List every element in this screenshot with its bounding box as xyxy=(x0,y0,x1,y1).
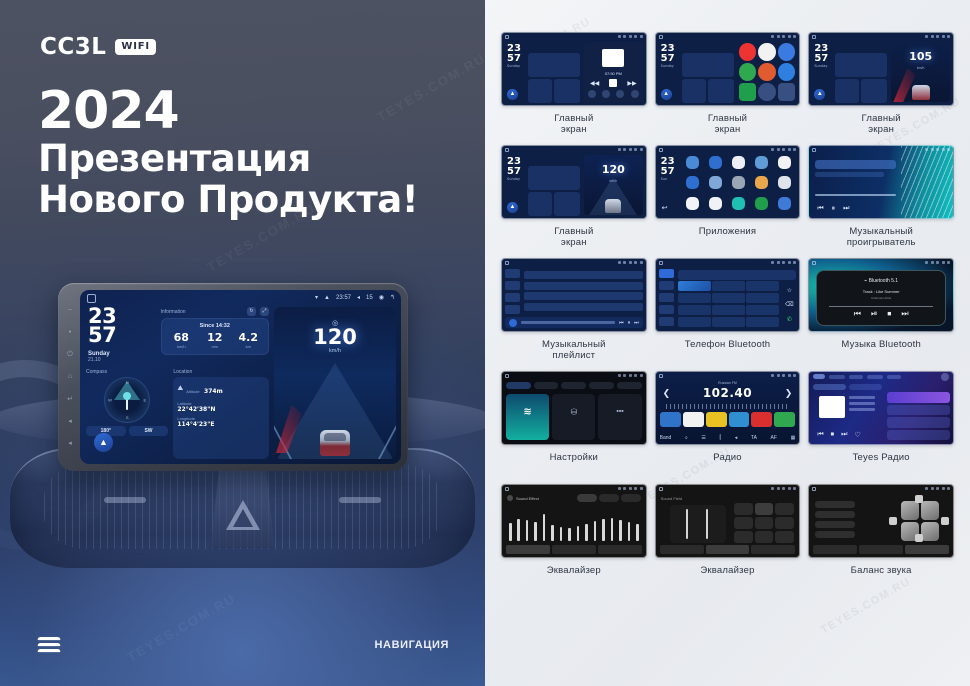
speed-unit: km/h xyxy=(274,348,396,354)
card-hotspot[interactable]: ⛁ xyxy=(552,394,595,440)
tab-balance[interactable] xyxy=(751,545,795,554)
next-station-icon[interactable]: ❯ xyxy=(785,388,793,399)
tab-history[interactable] xyxy=(887,375,901,379)
app-icon-settings[interactable] xyxy=(758,83,776,101)
media-shortcuts[interactable] xyxy=(588,90,639,98)
app-icon-youtube[interactable] xyxy=(739,43,757,61)
now-playing-bar[interactable]: ⏮ ⏸ ⏭ xyxy=(505,317,643,328)
expand-icon[interactable]: ⤢ xyxy=(260,307,269,316)
thumb-status-bar xyxy=(502,33,646,40)
thumbnail-settings[interactable]: ≋ ⛁ ••• xyxy=(501,371,647,445)
navigate-icon[interactable]: ▲ xyxy=(661,89,672,100)
app-icon-maps[interactable] xyxy=(778,43,796,61)
thumb-location-card xyxy=(554,79,580,103)
stop-icon[interactable]: ⏹ xyxy=(831,431,835,439)
next-icon[interactable]: ⏭ xyxy=(901,309,908,319)
tuning-scale[interactable] xyxy=(666,404,790,409)
side-key-back[interactable]: ↵ xyxy=(66,395,75,404)
clock-widget[interactable]: 23 57 Sunday 21.10 xyxy=(86,307,156,365)
dialpad-key-4[interactable] xyxy=(678,293,711,303)
dialpad-key-2[interactable] xyxy=(712,281,745,291)
dialpad-key-8[interactable] xyxy=(712,305,745,315)
dash-button-right[interactable] xyxy=(339,497,381,503)
preset-button[interactable] xyxy=(599,494,619,502)
tab-about[interactable] xyxy=(617,382,642,389)
preset-stations[interactable] xyxy=(660,412,796,427)
trip-stat-distance: 4.2 km xyxy=(232,332,265,349)
sidebar-item-settings[interactable] xyxy=(659,317,674,326)
band-icon[interactable]: Band xyxy=(660,435,672,441)
tab-sound-field[interactable] xyxy=(552,545,596,554)
tab-system[interactable] xyxy=(589,382,614,389)
mute-icon[interactable]: ◉ xyxy=(379,294,384,301)
list-item[interactable] xyxy=(524,292,643,300)
list-item[interactable] xyxy=(887,417,950,428)
refresh-icon[interactable]: ↻ xyxy=(247,307,256,316)
slider-bass[interactable] xyxy=(686,509,688,539)
side-key-mic[interactable]: • xyxy=(66,328,75,337)
setting-balance[interactable] xyxy=(815,511,855,518)
next-icon[interactable]: ⏭ xyxy=(634,320,639,326)
thumbnail-caption: Приложения xyxy=(699,226,757,252)
app-icon-theme[interactable] xyxy=(778,197,791,210)
radio-toolbar[interactable]: Band ⌕ ☰ ⫿ ◂ TA AF ▦ xyxy=(660,435,796,441)
dialpad-key-7[interactable] xyxy=(678,305,711,315)
loud-icon[interactable]: ◂ xyxy=(735,435,738,441)
dialpad-key-5[interactable] xyxy=(712,293,745,303)
list-item[interactable] xyxy=(524,303,643,311)
thumbnail-teyes-radio[interactable]: ⏮ ⏹ ⏭ ♡ xyxy=(808,371,954,445)
grid-cell[interactable]: ⏮ ⏹ ⏭ ♡ Teyes Радио xyxy=(808,371,954,478)
app-icon-dvr[interactable] xyxy=(732,176,745,189)
next-icon[interactable]: ⏭ xyxy=(843,205,849,213)
app-icon-settings[interactable] xyxy=(686,176,699,189)
trip-stat-speed: 68 km/h xyxy=(165,332,198,349)
location-title: Location xyxy=(173,369,269,375)
balance-settings-list[interactable] xyxy=(815,501,855,538)
thumbnail-music-player[interactable]: ⏮ ⏸ ⏭ xyxy=(808,145,954,219)
thumbnail-equalizer-sliders[interactable]: Sound Field xyxy=(655,484,801,558)
balance-left-icon[interactable] xyxy=(889,517,897,525)
backspace-icon[interactable]: ⌫ xyxy=(785,301,793,308)
trip-stat-time: 12 min xyxy=(198,332,231,349)
compass-hub xyxy=(123,392,131,400)
teyes-radio-filters[interactable] xyxy=(813,384,882,390)
player-controls[interactable]: ⏮ ⏸ ⏭ xyxy=(817,205,849,213)
eq-band[interactable] xyxy=(543,514,546,541)
wifi-badge: WIFI xyxy=(115,39,156,55)
compass-n: N xyxy=(126,380,129,385)
preset-2[interactable] xyxy=(683,412,704,427)
list-icon[interactable]: ☰ xyxy=(701,435,705,441)
hazard-triangle-icon[interactable] xyxy=(226,500,260,530)
prev-icon[interactable]: ◀◀ xyxy=(590,80,599,87)
track-list[interactable] xyxy=(524,271,643,317)
app-icon-chrome[interactable] xyxy=(758,43,776,61)
thumb-location-card xyxy=(708,79,734,103)
grid-cell[interactable]: ≋ ⛁ ••• Настройки xyxy=(501,371,647,478)
station-list[interactable] xyxy=(887,392,950,440)
play-pause-icon[interactable]: ⏯ xyxy=(871,309,877,319)
grid-cell[interactable]: ⏮ ⏸ ⏭ Музыкальныйплейлист xyxy=(501,258,647,365)
information-actions[interactable]: ↻ ⤢ xyxy=(247,307,269,316)
grid-cell[interactable]: 2357Sunday 120 km/h ▲ Главныйэкран xyxy=(501,145,647,252)
track-artist: Unknown Artist xyxy=(817,296,945,300)
app-icon-all-apps[interactable] xyxy=(778,83,796,101)
filter-all[interactable] xyxy=(813,384,846,390)
filter-pop[interactable] xyxy=(849,384,882,390)
settings-cards[interactable]: ≋ ⛁ ••• xyxy=(506,394,642,440)
thumb-status-bar xyxy=(656,372,800,379)
list-icon[interactable] xyxy=(631,90,639,98)
favorite-icon[interactable]: ☆ xyxy=(787,287,792,294)
app-icon-mail[interactable] xyxy=(778,63,796,81)
tab-display[interactable] xyxy=(561,382,586,389)
eq-band[interactable] xyxy=(619,520,622,541)
eq-band[interactable] xyxy=(611,518,614,541)
information-widget[interactable]: Information ↻ ⤢ Since 14:32 xyxy=(161,307,269,365)
teyes-radio-topbar[interactable] xyxy=(809,372,953,381)
sidebar-item-contacts[interactable] xyxy=(659,281,674,290)
grid-cell[interactable]: ⌁ Bluetooth 5.1 Track : Like Summer Unkn… xyxy=(808,258,954,365)
side-key-volume-up[interactable]: − xyxy=(66,306,75,315)
speaker-front-right[interactable] xyxy=(921,501,939,520)
thumb-status-bar xyxy=(502,146,646,153)
visualizer-lines xyxy=(901,146,953,218)
eq-band[interactable] xyxy=(602,519,605,541)
grid-cell[interactable]: ⏮ ⏸ ⏭ Музыкальныйпроигрыватель xyxy=(808,145,954,252)
phone-number-field[interactable] xyxy=(678,270,797,280)
thumb-compass-card xyxy=(682,79,706,103)
eq-band[interactable] xyxy=(509,523,512,541)
thumb-clock: 2357Sunday xyxy=(507,44,521,68)
sidebar-item-tracks[interactable] xyxy=(505,269,520,278)
app-icon-gallery[interactable] xyxy=(778,176,791,189)
thumbnail-bt-music[interactable]: ⌁ Bluetooth 5.1 Track : Like Summer Unkn… xyxy=(808,258,954,332)
tab-eq[interactable] xyxy=(506,545,550,554)
slider-panel[interactable] xyxy=(670,505,726,543)
side-key-power[interactable]: ⏻ xyxy=(66,350,75,359)
status-icons xyxy=(771,487,796,490)
vehicle-model xyxy=(912,85,930,100)
setting-fader[interactable] xyxy=(815,501,855,508)
pause-icon[interactable]: ⏸ xyxy=(832,205,836,213)
dialpad-key-star[interactable] xyxy=(678,317,711,327)
preset-6[interactable] xyxy=(774,412,795,427)
navigate-icon[interactable]: ▲ xyxy=(814,89,825,100)
prev-icon[interactable]: ⏮ xyxy=(817,205,823,213)
eq-tabs[interactable] xyxy=(660,545,796,554)
thumbnail-equalizer-bars[interactable]: Sound Effect xyxy=(501,484,647,558)
thumb-info-card xyxy=(528,53,580,77)
list-item[interactable] xyxy=(887,430,950,441)
thumb-clock: 2357Sun xyxy=(661,157,675,181)
player-controls[interactable]: ⏮ ⏹ ⏭ ♡ xyxy=(817,431,860,439)
settings-tabs[interactable] xyxy=(506,382,642,389)
back-icon[interactable]: ↰ xyxy=(390,294,395,301)
thumbnail-app-drawer[interactable]: 2357Sun xyxy=(655,145,801,219)
tab-wlan[interactable] xyxy=(506,382,531,389)
grid-cell[interactable]: 2357Sunday 105 km/h ▲ Главныйэкран xyxy=(808,32,954,139)
thumbnail-music-playlist[interactable]: ⏮ ⏸ ⏭ xyxy=(501,258,647,332)
progress-bar[interactable] xyxy=(829,306,933,307)
app-icon-music[interactable] xyxy=(732,156,745,169)
dialpad-key-0[interactable] xyxy=(712,317,745,327)
navigate-icon[interactable]: ▲ xyxy=(94,433,113,452)
grid-cell[interactable]: Sound Field xyxy=(655,484,801,591)
tab-balance[interactable] xyxy=(598,545,642,554)
side-key-volume[interactable]: ◂ xyxy=(66,439,75,448)
home-icon xyxy=(505,261,509,265)
call-icon[interactable]: ✆ xyxy=(787,316,792,323)
sound-field-presets[interactable] xyxy=(734,503,795,543)
balance-right-icon[interactable] xyxy=(941,517,949,525)
pause-icon[interactable]: ⏸ xyxy=(628,320,631,326)
thumb-clock: 2357Sunday xyxy=(814,44,828,68)
app-icon-bluetooth[interactable] xyxy=(709,156,722,169)
volume-icon: ◂ xyxy=(357,294,360,301)
next-icon[interactable]: ▶▶ xyxy=(627,80,636,87)
app-icon-radio[interactable] xyxy=(732,197,745,210)
preset-rear[interactable] xyxy=(734,517,753,529)
eq-band[interactable] xyxy=(517,519,520,541)
tab-sound[interactable] xyxy=(534,382,559,389)
tab-sound-field[interactable] xyxy=(859,545,903,554)
media-controls[interactable]: ◀◀ ▶▶ xyxy=(590,79,637,87)
player-controls[interactable]: ⏮ ⏯ ⏹ ⏭ xyxy=(817,309,945,319)
apps-icon[interactable]: ▦ xyxy=(791,435,796,441)
clock-date: 21.10 xyxy=(88,357,156,363)
eq-preset-buttons[interactable] xyxy=(577,494,641,502)
head-unit-device: − • ⏻ ⌂ ↵ ◂ ◂ ▾ ▲ 23:57 ◂ 15 ◉ ↰ xyxy=(58,283,408,471)
back-icon[interactable]: ↩ xyxy=(662,204,668,212)
sidebar-item-search[interactable] xyxy=(659,293,674,302)
app-drawer-grid[interactable] xyxy=(682,156,796,214)
balance-down-icon[interactable] xyxy=(915,534,923,542)
head-unit-screen[interactable]: ▾ ▲ 23:57 ◂ 15 ◉ ↰ 23 57 Sunday xyxy=(80,290,401,464)
eq-tabs[interactable] xyxy=(813,545,949,554)
next-icon[interactable]: ⏭ xyxy=(841,431,847,439)
phone-sidebar[interactable] xyxy=(659,269,674,327)
eq-band[interactable] xyxy=(628,522,631,541)
grid-cell[interactable]: 2357Sunday 07:50 PM ◀◀ ▶▶ xyxy=(501,32,647,139)
app-icon-play-store[interactable] xyxy=(755,197,768,210)
home-icon xyxy=(659,374,663,378)
preset-3[interactable] xyxy=(706,412,727,427)
trip-distance-value: 4.2 xyxy=(232,332,265,343)
grid-cell[interactable]: 2357Sunday ▲ xyxy=(655,32,801,139)
preset-club[interactable] xyxy=(775,531,794,543)
dash-button-left[interactable] xyxy=(104,497,146,503)
grid-cell[interactable]: ☆ ⌫ ✆ Телефон Bluetooth xyxy=(655,258,801,365)
dialpad-key-9[interactable] xyxy=(746,305,779,315)
thumbnail-home-media[interactable]: 2357Sunday 07:50 PM ◀◀ ▶▶ xyxy=(501,32,647,106)
dialpad-key-hash[interactable] xyxy=(746,317,779,327)
eq-band[interactable] xyxy=(526,520,529,541)
preset-button[interactable] xyxy=(621,494,641,502)
grid-cell[interactable]: Russian FM 102.40 ❮ ❯ Band xyxy=(655,371,801,478)
card-more[interactable]: ••• xyxy=(598,394,641,440)
thumbnail-bt-phone[interactable]: ☆ ⌫ ✆ xyxy=(655,258,801,332)
app-icon-file-manager[interactable] xyxy=(755,176,768,189)
tab-eq[interactable] xyxy=(660,545,704,554)
app-icon-maps[interactable] xyxy=(709,197,722,210)
track-title xyxy=(521,321,615,324)
eq-tabs[interactable] xyxy=(506,545,642,554)
slider-treble[interactable] xyxy=(706,509,708,539)
eq-band[interactable] xyxy=(585,524,588,541)
prev-station-icon[interactable]: ❮ xyxy=(663,388,671,399)
sidebar-item-folders[interactable] xyxy=(505,305,520,314)
hero-headline: 2024 Презентация Нового Продукта! xyxy=(38,85,418,221)
app-icon-calculator[interactable] xyxy=(755,156,768,169)
shuffle-icon[interactable] xyxy=(588,90,596,98)
prev-icon[interactable]: ⏮ xyxy=(854,309,861,319)
compass-title: Compass xyxy=(86,369,168,375)
tab-countries[interactable] xyxy=(867,375,883,379)
favorite-icon[interactable]: ♡ xyxy=(854,431,860,439)
eq-band[interactable] xyxy=(594,521,597,541)
altitude-value: 374m xyxy=(204,388,223,395)
app-icon-reddit[interactable] xyxy=(758,63,776,81)
preset-4[interactable] xyxy=(729,412,750,427)
list-item[interactable] xyxy=(887,405,950,416)
grid-cell[interactable]: 2357Sun xyxy=(655,145,801,252)
list-item[interactable] xyxy=(524,282,643,290)
app-icon-clock[interactable] xyxy=(709,176,722,189)
home-icon xyxy=(505,35,509,39)
eq-band[interactable] xyxy=(577,526,580,541)
preset-all[interactable] xyxy=(775,517,794,529)
navigation-widget[interactable]: ◎ 120 km/h xyxy=(274,307,396,459)
navigate-icon[interactable]: ▲ xyxy=(507,89,518,100)
thumbnail-home-nav-120[interactable]: 2357Sunday 120 km/h ▲ xyxy=(501,145,647,219)
speed-value: 120 xyxy=(584,163,643,176)
eq-band[interactable] xyxy=(560,527,563,541)
list-item[interactable] xyxy=(887,392,950,403)
dialpad-key-3[interactable] xyxy=(746,281,779,291)
balance-up-icon[interactable] xyxy=(915,495,923,503)
tab-all[interactable] xyxy=(813,374,825,379)
speed-readout: ◎ 120 km/h xyxy=(274,319,396,354)
app-icon-spotify[interactable] xyxy=(739,63,757,81)
thumb-nav-panel[interactable]: 105 km/h xyxy=(891,42,950,102)
tab-eq[interactable] xyxy=(813,545,857,554)
setting-reset[interactable] xyxy=(815,531,855,538)
dialpad-key-6[interactable] xyxy=(746,293,779,303)
app-icon-play-store[interactable] xyxy=(739,83,757,101)
eq-band[interactable] xyxy=(636,524,639,541)
phone-actions[interactable]: ☆ ⌫ ✆ xyxy=(782,283,796,327)
logo-text: CC3L xyxy=(40,34,106,60)
side-key-volume-down[interactable]: ◂ xyxy=(66,417,75,426)
media-time: 07:50 PM xyxy=(605,71,622,76)
speaker-front-left[interactable] xyxy=(901,501,919,520)
sidebar-item-artists[interactable] xyxy=(505,293,520,302)
dialpad[interactable] xyxy=(678,281,780,327)
equalizer-sliders[interactable] xyxy=(509,505,639,541)
dialpad-key-1[interactable] xyxy=(678,281,711,291)
tab-genres[interactable] xyxy=(849,375,863,379)
preset-1[interactable] xyxy=(660,412,681,427)
hotspot-icon: ⛁ xyxy=(570,408,577,417)
tab-balance[interactable] xyxy=(905,545,949,554)
information-title: Information xyxy=(161,309,186,315)
tab-sound-field[interactable] xyxy=(706,545,750,554)
speaker-rear-right[interactable] xyxy=(921,522,939,541)
thumbnail-radio[interactable]: Russian FM 102.40 ❮ ❯ Band xyxy=(655,371,801,445)
status-icons xyxy=(618,148,643,151)
grid-cell[interactable]: Sound Effect xyxy=(501,484,647,591)
thumbnail-caption: Телефон Bluetooth xyxy=(685,339,771,365)
app-icon-avn[interactable] xyxy=(686,156,699,169)
prev-icon[interactable]: ⏮ xyxy=(619,320,624,326)
preset-5[interactable] xyxy=(751,412,772,427)
tab-favorites[interactable] xyxy=(829,375,845,379)
stop-icon[interactable]: ⏹ xyxy=(887,309,891,319)
preset-custom[interactable] xyxy=(755,517,774,529)
list-item[interactable] xyxy=(524,271,643,279)
eq-preset-label[interactable]: Sound Effect xyxy=(507,495,539,501)
preset-front[interactable] xyxy=(775,503,794,515)
eq-icon[interactable] xyxy=(616,90,624,98)
progress-bar[interactable] xyxy=(815,194,895,196)
preset-button[interactable] xyxy=(577,494,597,502)
navigate-icon[interactable]: ▲ xyxy=(507,202,518,213)
close-icon[interactable] xyxy=(941,373,949,381)
thumb-status-bar xyxy=(502,485,646,492)
ta-icon[interactable]: TA xyxy=(751,435,757,441)
side-key-home[interactable]: ⌂ xyxy=(66,372,75,381)
head-unit-side-keys[interactable]: − • ⏻ ⌂ ↵ ◂ ◂ xyxy=(62,299,78,455)
sidebar-item-albums[interactable] xyxy=(505,281,520,290)
status-icons xyxy=(925,35,950,38)
app-icon-camera[interactable] xyxy=(778,156,791,169)
headline-year: 2024 xyxy=(38,85,418,138)
card-wifi[interactable]: ≋ xyxy=(506,394,549,440)
eq-band[interactable] xyxy=(534,522,537,541)
thumbnail-home-apps[interactable]: 2357Sunday ▲ xyxy=(655,32,801,106)
app-shortcut-grid[interactable] xyxy=(738,42,797,102)
trip-stats: 68 km/h 12 min 4.2 xyxy=(165,332,265,349)
meta-country xyxy=(849,402,875,405)
thumbnail-caption: Музыкальныйпроигрыватель xyxy=(847,226,916,252)
search-icon[interactable]: ⌕ xyxy=(685,435,688,441)
location-widget[interactable]: Location ⛰ Altitude 374m xyxy=(173,369,269,459)
preset-studio[interactable] xyxy=(755,531,774,543)
thumbnail-home-nav-105[interactable]: 2357Sunday 105 km/h ▲ xyxy=(808,32,954,106)
sidebar-item-history[interactable] xyxy=(659,305,674,314)
app-icon-carplay[interactable] xyxy=(686,197,699,210)
preset-driver[interactable] xyxy=(755,503,774,515)
home-icon[interactable] xyxy=(87,294,96,303)
grid-cell[interactable]: Баланс звука xyxy=(808,484,954,591)
eq-band[interactable] xyxy=(551,525,554,541)
preset-flat[interactable] xyxy=(734,503,753,515)
repeat-icon[interactable] xyxy=(602,90,610,98)
eq-icon[interactable]: ⫿ xyxy=(720,435,722,441)
sidebar-item-dialpad[interactable] xyxy=(659,269,674,278)
af-icon[interactable]: AF xyxy=(771,435,777,441)
preset-hall[interactable] xyxy=(734,531,753,543)
prev-icon[interactable]: ⏮ xyxy=(817,431,823,439)
thumb-nav-panel[interactable]: 120 km/h xyxy=(584,155,643,215)
eq-band[interactable] xyxy=(568,528,571,541)
stop-icon[interactable] xyxy=(609,79,617,87)
thumbnail-sound-balance[interactable] xyxy=(808,484,954,558)
thumbnail-caption: Главныйэкран xyxy=(708,113,747,139)
setting-subwoofer[interactable] xyxy=(815,521,855,528)
